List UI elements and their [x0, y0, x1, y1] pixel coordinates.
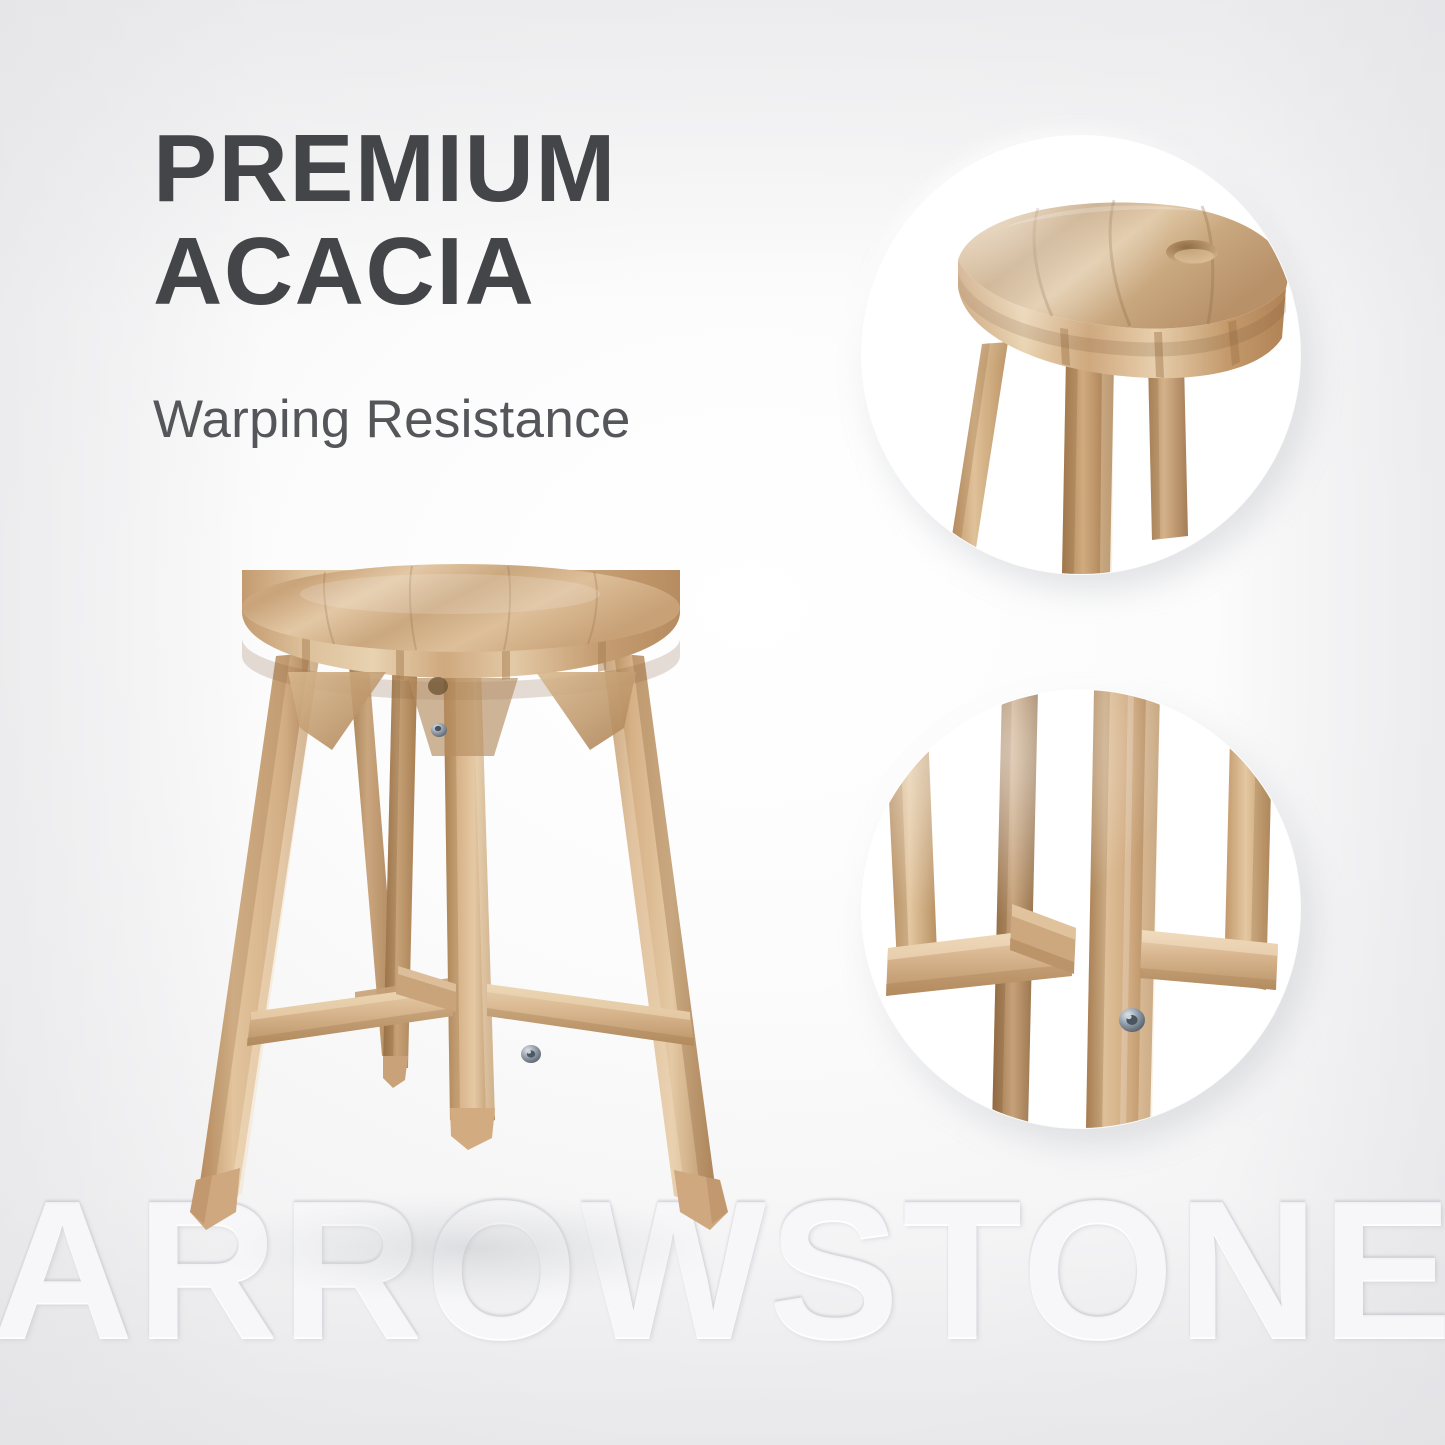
page-title: PREMIUM ACACIA: [153, 118, 631, 323]
floor-shadow: [215, 1192, 725, 1304]
product-marketing-image: ARROWSTONE PREMIUM ACACIA Warping Resist…: [0, 0, 1445, 1445]
s-screw: [1119, 1008, 1145, 1032]
headline-block: PREMIUM ACACIA Warping Resistance: [153, 118, 631, 450]
screw-lower: [521, 1045, 541, 1063]
product-hero-image: [150, 560, 770, 1340]
subtitle: Warping Resistance: [153, 389, 631, 450]
detail-inset-stretcher: [862, 690, 1300, 1128]
gusset-center: [408, 678, 518, 756]
detail-inset-seat: [862, 136, 1300, 574]
